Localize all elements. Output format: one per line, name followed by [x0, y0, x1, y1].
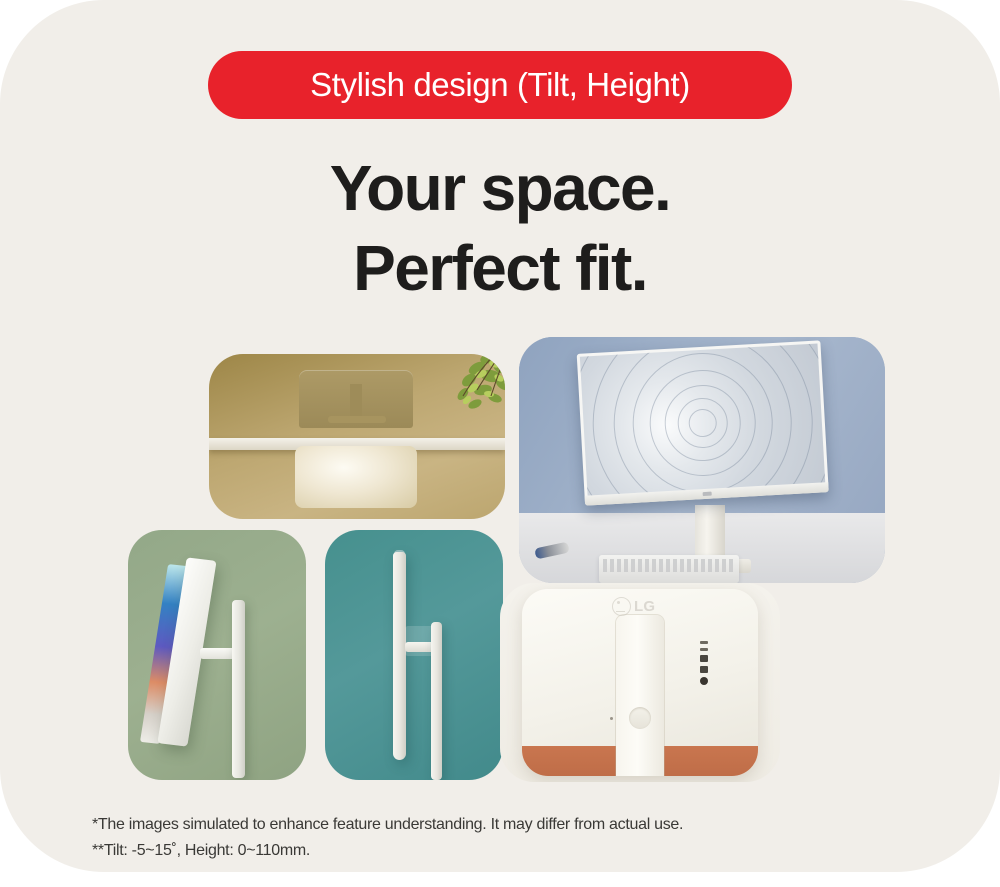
- product-image-gallery: LG: [0, 0, 1000, 872]
- monitor-screen-wallpaper: [580, 343, 825, 497]
- shelf-monitor-foot: [328, 416, 386, 423]
- tilt-monitor-column: [232, 600, 245, 778]
- gallery-tile-rear-view: LG: [500, 583, 780, 782]
- footnote-images-disclaimer: *The images simulated to enhance feature…: [92, 812, 912, 838]
- footnote-tilt-height-spec: **Tilt: -5~15˚, Height: 0~110mm.: [92, 838, 912, 864]
- promo-page: Stylish design (Tilt, Height) Your space…: [0, 0, 1000, 887]
- monitor-rear-housing: LG: [522, 589, 758, 776]
- monitor-rear-stand-spine: [616, 615, 664, 776]
- port-jack: [700, 677, 708, 685]
- gallery-tile-desk-scene: [519, 337, 885, 583]
- monitor-logo-icon: [703, 492, 712, 496]
- ripple-ring: [580, 343, 825, 497]
- lg-logo-text: LG: [634, 599, 655, 614]
- monitor-rear-ports: [700, 641, 710, 685]
- gallery-tile-height-edge-view: [325, 530, 503, 780]
- keyboard-keys: [603, 559, 735, 572]
- height-monitor-column: [431, 622, 442, 780]
- footnotes: *The images simulated to enhance feature…: [92, 812, 912, 864]
- lg-logo: LG: [612, 597, 655, 616]
- hanging-plant-icon: [403, 354, 505, 426]
- desk-monitor: [577, 340, 830, 515]
- port-slot: [700, 655, 708, 662]
- shelf-monitor-neck: [350, 384, 362, 420]
- lg-logo-mark-icon: [612, 597, 631, 616]
- height-monitor-panel: [393, 552, 406, 760]
- gallery-tile-tilt-side-view: [128, 530, 306, 780]
- shelf-lamp-glow: [295, 446, 417, 508]
- monitor-bezel: [577, 340, 829, 505]
- port-slot: [700, 648, 708, 651]
- gallery-tile-shelf-scene: [209, 354, 505, 519]
- monitor-rear-stand-knob: [629, 707, 651, 729]
- port-slot: [700, 666, 708, 673]
- keyboard-icon: [599, 555, 739, 583]
- port-slot: [700, 641, 708, 644]
- monitor-rear-pinhole: [610, 717, 613, 720]
